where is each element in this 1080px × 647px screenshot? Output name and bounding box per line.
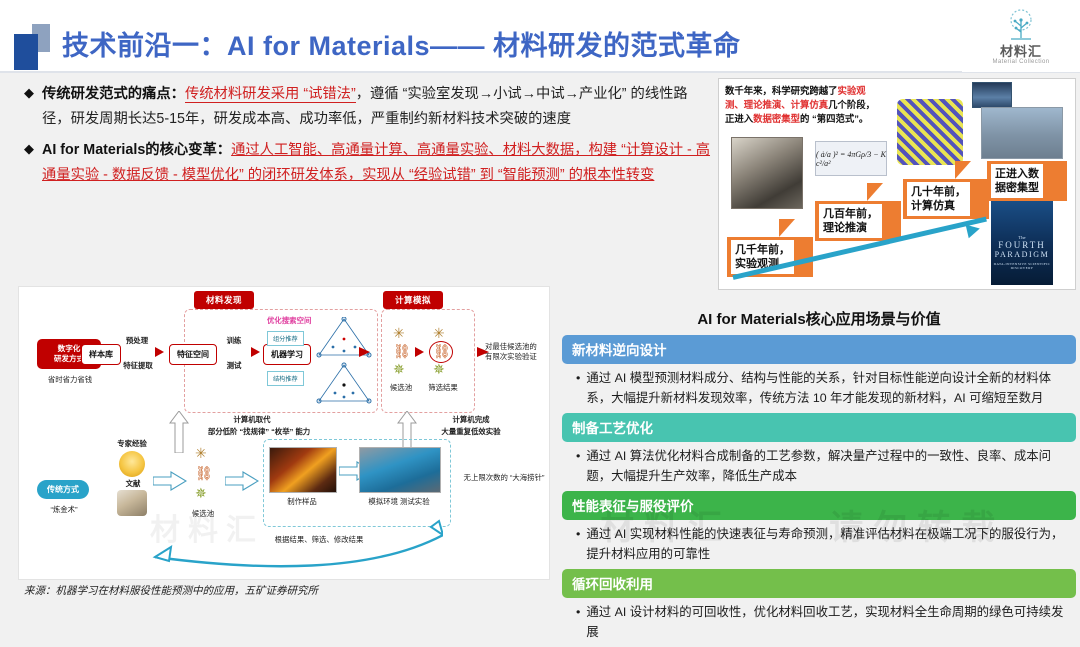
label-structure-recommend: 结构推荐: [267, 371, 304, 386]
diamond-bullet-icon: ◆: [24, 82, 34, 104]
photo-test-lab: [359, 447, 441, 493]
arrow-ml-to-pool: [359, 347, 370, 357]
paradigm-caption-red3: 数据密集型: [753, 113, 800, 124]
label-test: 测试: [219, 361, 249, 371]
label-expert-experience: 专家经验: [107, 439, 157, 449]
slide-root: 技术前沿一：AI for Materials—— 材料研发的范式革命 材料汇 M…: [0, 0, 1080, 607]
step4-line1: 正进入数: [995, 168, 1039, 180]
arrow-sample-to-feature: [155, 347, 164, 357]
paradigm-step-label-2: 几百年前， 理论推演: [819, 204, 882, 238]
case-text: 通过 AI 实现材料性能的快速表征与寿命预测，精准评估材料在极端工况下的服役行为…: [586, 524, 1072, 564]
case-heading-performance-evaluation: 性能表征与服役评价: [562, 491, 1076, 520]
book-subtitle: DATA-INTENSIVE SCIENTIFIC DISCOVERY: [991, 262, 1053, 270]
supercomputer-building-image: [981, 107, 1063, 159]
step4-line2: 据密集型: [995, 182, 1039, 194]
molecule-icon-b1: ✳: [433, 327, 444, 340]
molecule-icon-a3: ✵: [393, 363, 404, 376]
case-heading-process-optimization: 制备工艺优化: [562, 413, 1076, 442]
bullet-highlight: 传统材料研发采用 “试错法”: [185, 86, 356, 103]
highlight-circle-selected: [429, 341, 453, 363]
paradigm-step-wedge-2: [867, 183, 883, 201]
tag-material-discovery: 材料发现: [194, 291, 254, 309]
photo-sample-making: [269, 447, 337, 493]
bullet-dot-icon: •: [576, 446, 580, 486]
case-heading-recycling: 循环回收利用: [562, 569, 1076, 598]
molecule-icon-b3: ✵: [433, 363, 444, 376]
paradigm-caption-red1: 实验观: [838, 85, 866, 96]
paradigm-caption-red2: 测、理论推演、计算仿真: [725, 99, 828, 110]
molecule-icon-c1: ✳: [195, 447, 206, 460]
label-make-sample: 制作样品: [269, 497, 335, 507]
diamond-bullet-icon: ◆: [24, 138, 34, 160]
case-body-performance-evaluation: • 通过 AI 实现材料性能的快速表征与寿命预测，精准评估材料在极端工况下的服役…: [562, 524, 1076, 569]
paradigm-step-wedge-3: [955, 161, 971, 179]
node-machine-learning: 机器学习: [263, 344, 311, 365]
traditional-subtitle: “炼金术”: [33, 505, 95, 515]
molecule-icon-c2: ⛓: [195, 467, 212, 480]
book-line1: FOURTH: [991, 240, 1053, 250]
digital-rnd-line2: 研发方式: [54, 354, 84, 363]
fourth-paradigm-book-cover: The FOURTH PARADIGM DATA-INTENSIVE SCIEN…: [991, 201, 1053, 285]
label-component-recommend: 组分推荐: [267, 331, 304, 346]
label-simulated-environment-test: 模拟环境 测试实验: [355, 497, 443, 507]
case-body-reverse-design: • 通过 AI 模型预测材料成分、结构与性能的关系，针对目标性能逆向设计全新的材…: [562, 368, 1076, 413]
paradigm-caption-part3: 正进入: [725, 113, 753, 124]
label-preprocess: 预处理: [115, 336, 159, 346]
arrow-pool-to-sample: [225, 471, 259, 491]
badge-traditional-method: 传统方式: [37, 480, 89, 499]
arrow-feature-to-ml: [251, 347, 260, 357]
step3-line2: 计算仿真: [911, 200, 955, 212]
label-feature-extract: 特征提取: [111, 361, 165, 371]
step2-line1: 几百年前，: [823, 208, 878, 220]
use-case-panel: AI for Materials核心应用场景与价值 新材料逆向设计 • 通过 A…: [562, 308, 1076, 647]
bullet-lead: 传统研发范式的痛点：: [42, 86, 185, 102]
paradigm-caption-part2: 几个阶段，: [828, 99, 875, 110]
book-line2: PARADIGM: [991, 250, 1053, 259]
telescope-image: [972, 82, 1012, 108]
bullet-lead: AI for Materials的核心变革：: [42, 142, 231, 158]
bullet-text: AI for Materials的核心变革：通过人工智能、高通量计算、高通量实验…: [42, 138, 714, 188]
paradigm-caption-part1: 数千年来，科学研究跨越了: [725, 85, 838, 96]
slide-header: 技术前沿一：AI for Materials—— 材料研发的范式革命 材料汇 M…: [0, 0, 1080, 72]
paradigm-caption-part4: 的 “第四范式”。: [800, 113, 868, 124]
fourth-paradigm-figure: 数千年来，科学研究跨越了实验观 测、理论推演、计算仿真几个阶段， 正进入数据密集…: [718, 78, 1076, 290]
molecule-icon-a1: ✳: [393, 327, 404, 340]
paradigm-caption: 数千年来，科学研究跨越了实验观 测、理论推演、计算仿真几个阶段， 正进入数据密集…: [725, 84, 910, 126]
phase-diagram-graphics: [315, 317, 373, 405]
lightbulb-icon: [119, 451, 145, 477]
case-body-recycling: • 通过 AI 设计材料的可回收性，优化材料回收工艺，实现材料全生命周期的绿色可…: [562, 602, 1076, 647]
brand-logo: 材料汇 Material Collection: [962, 0, 1080, 72]
note-computer-replace-2: 部分低阶 “找规律” “枚举” 能力: [159, 427, 359, 437]
label-feedback-loop: 根据结果、筛选、修改结果: [259, 535, 379, 545]
molecule-icon-c3: ✵: [195, 487, 206, 500]
label-candidate-pool-sim: 候选池: [385, 383, 417, 393]
use-case-panel-title: AI for Materials核心应用场景与价值: [562, 308, 1076, 329]
bullet-dot-icon: •: [576, 524, 580, 564]
label-literature: 文献: [111, 479, 155, 489]
logo-text-cn: 材料汇: [1000, 45, 1042, 58]
bullet-list: ◆ 传统研发范式的痛点：传统材料研发采用 “试错法”，遵循 “实验室发现→小试→…: [24, 82, 714, 194]
paradigm-timeline-arrowhead: [966, 222, 982, 239]
step2-line2: 理论推演: [823, 222, 867, 234]
scholar-illustration: [117, 490, 147, 516]
paradigm-step-label-4: 正进入数 据密集型: [991, 164, 1043, 198]
friedmann-equation: ( ȧ/a )² = 4πGρ/3 − K c²/a²: [815, 141, 887, 176]
paradigm-step-label-3: 几十年前， 计算仿真: [907, 182, 970, 216]
case-heading-reverse-design: 新材料逆向设计: [562, 335, 1076, 364]
label-experiment-verification: 对最佳候选池的 有限次实验验证: [485, 342, 547, 362]
note-computer-replace-1: 计算机取代: [197, 415, 307, 425]
tree-logo-icon: [1001, 8, 1041, 44]
digital-rnd-subtitle: 省时省力省钱: [29, 375, 111, 385]
header-accent-square-dark: [14, 34, 38, 70]
case-text: 通过 AI 模型预测材料成分、结构与性能的关系，针对目标性能逆向设计全新的材料体…: [586, 368, 1072, 408]
alchemist-etching-image: [731, 137, 803, 209]
case-body-process-optimization: • 通过 AI 算法优化材料合成制备的工艺参数，解决量产过程中的一致性、良率、成…: [562, 446, 1076, 491]
step3-line1: 几十年前，: [911, 186, 966, 198]
bullet-dot-icon: •: [576, 368, 580, 408]
logo-text-en: Material Collection: [993, 59, 1050, 65]
page-title: 技术前沿一：AI for Materials—— 材料研发的范式革命: [62, 24, 741, 63]
arrow-pool-to-screen: [415, 347, 424, 357]
note-computer-experiments-2: 大量重复低效实验: [415, 427, 527, 437]
paradigm-step-wedge-1: [779, 219, 795, 237]
bullet-dot-icon: •: [576, 602, 580, 642]
digital-rnd-line1: 数字化: [58, 344, 81, 353]
label-optimize-search-space: 优化搜索空间: [267, 315, 311, 326]
case-text: 通过 AI 算法优化材料合成制备的工艺参数，解决量产过程中的一致性、良率、成本问…: [586, 446, 1072, 486]
bullet-item: ◆ AI for Materials的核心变革：通过人工智能、高通量计算、高通量…: [24, 138, 714, 188]
step1-line1: 几千年前，: [735, 244, 790, 256]
research-workflow-diagram: 材料发现 计算模拟 数字化 研发方式 省时省力省钱 样本库 预处理 特征提取 特…: [18, 286, 550, 580]
simulation-cube-image: [897, 99, 963, 165]
arrow-expert-to-pool: [153, 471, 187, 491]
node-feature-space: 特征空间: [169, 344, 217, 365]
tag-computational-simulation: 计算模拟: [383, 291, 443, 309]
bullet-text: 传统研发范式的痛点：传统材料研发采用 “试错法”，遵循 “实验室发现→小试→中试…: [42, 82, 714, 132]
header-divider: [0, 71, 1080, 73]
bullet-item: ◆ 传统研发范式的痛点：传统材料研发采用 “试错法”，遵循 “实验室发现→小试→…: [24, 82, 714, 132]
source-note: 来源：机器学习在材料服役性能预测中的应用，五矿证券研究所: [24, 583, 318, 598]
case-text: 通过 AI 设计材料的可回收性，优化材料回收工艺，实现材料全生命周期的绿色可持续…: [586, 602, 1072, 642]
note-computer-experiments-1: 计算机完成: [423, 415, 519, 425]
label-needle-in-haystack: 无上限次数的 “大海捞针”: [459, 473, 549, 483]
molecule-icon-a2: ⛓: [393, 345, 410, 358]
label-screen-result: 筛选结果: [425, 383, 461, 393]
label-train: 训练: [219, 336, 249, 346]
